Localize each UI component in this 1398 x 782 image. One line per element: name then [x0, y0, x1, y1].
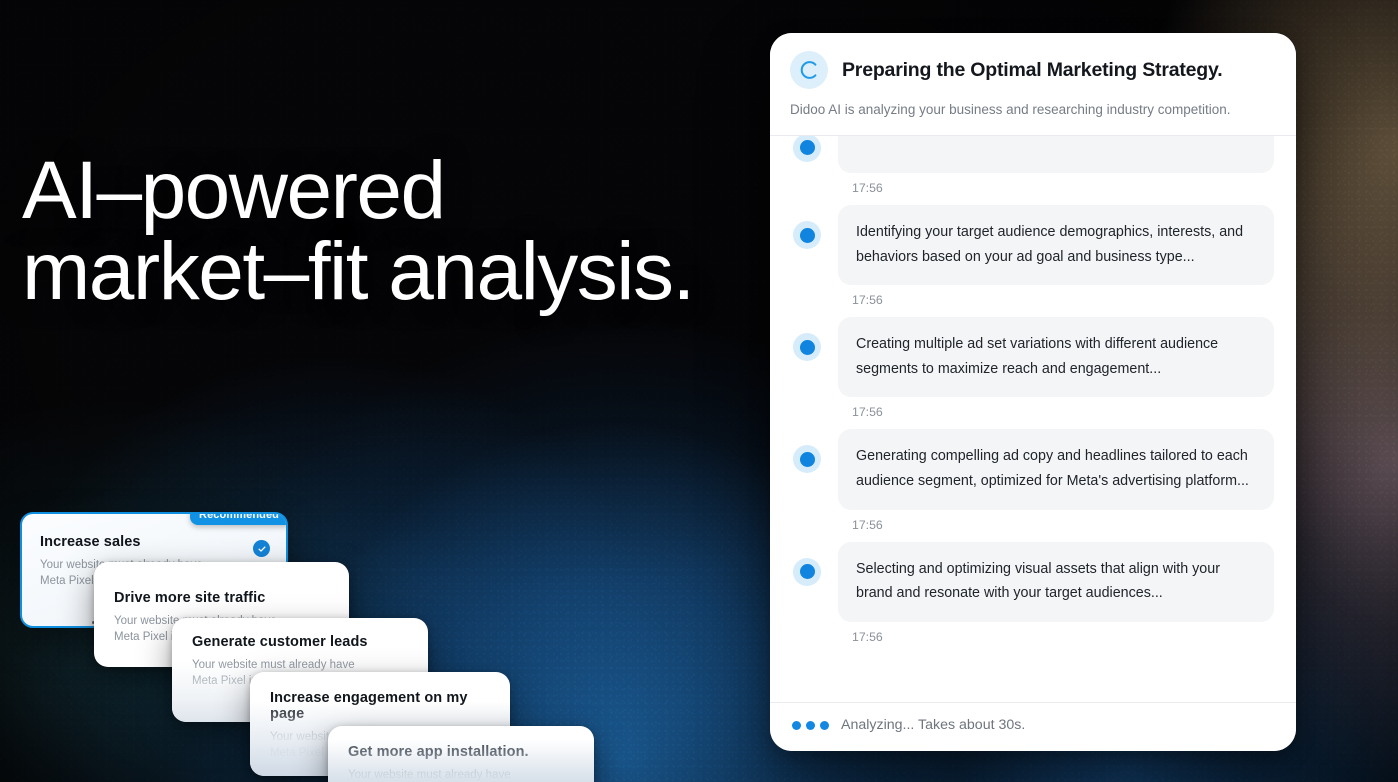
panel-header: Preparing the Optimal Marketing Strategy… [770, 33, 1296, 135]
message-group: Identifying your target audience demogra… [792, 205, 1274, 307]
message-timestamp: 17:56 [852, 293, 1274, 307]
panel-subtitle: Didoo AI is analyzing your business and … [790, 100, 1235, 121]
panel-title: Preparing the Optimal Marketing Strategy… [842, 59, 1222, 82]
goal-card-title: Increase engagement on my page [270, 690, 492, 722]
status-dot-wrap [792, 136, 822, 162]
message-group: Creating multiple ad set variations with… [792, 317, 1274, 419]
message-bubble: Selecting and optimizing visual assets t… [838, 542, 1274, 622]
message-row: Creating multiple ad set variations with… [792, 317, 1274, 397]
loading-dots-icon [792, 721, 829, 730]
panel-footer: Analyzing... Takes about 30s. [770, 702, 1296, 751]
message-row [792, 136, 1274, 174]
status-dot-wrap [792, 429, 822, 473]
message-list[interactable]: 17:56 Identifying your target audience d… [770, 136, 1296, 702]
analyzing-status: Analyzing... Takes about 30s. [841, 717, 1025, 733]
spinner-c-icon [790, 51, 828, 89]
status-dot-icon [793, 136, 821, 162]
message-bubble: Generating compelling ad copy and headli… [838, 429, 1274, 509]
message-row: Selecting and optimizing visual assets t… [792, 542, 1274, 622]
message-timestamp: 17:56 [852, 181, 1274, 195]
goal-card-description: Your website must already have Meta Pixe… [348, 767, 528, 782]
hero-section: AI–powered market–fit analysis. Recommen… [0, 0, 1398, 782]
status-dot-wrap [792, 205, 822, 249]
goal-card-title: Increase sales [40, 534, 268, 550]
status-dot-wrap [792, 542, 822, 586]
message-bubble [838, 136, 1274, 174]
message-row: Generating compelling ad copy and headli… [792, 429, 1274, 509]
goal-card-title: Drive more site traffic [114, 590, 331, 606]
status-dot-icon [793, 333, 821, 361]
goal-card-title: Generate customer leads [192, 634, 410, 650]
message-group: Generating compelling ad copy and headli… [792, 429, 1274, 531]
message-group: Selecting and optimizing visual assets t… [792, 542, 1274, 644]
goal-card-get-more-app-installation[interactable]: Get more app installation. Your website … [328, 726, 594, 782]
status-dot-icon [793, 558, 821, 586]
message-timestamp: 17:56 [852, 405, 1274, 419]
message-timestamp: 17:56 [852, 630, 1274, 644]
message-bubble: Identifying your target audience demogra… [838, 205, 1274, 285]
message-group-partial: 17:56 [792, 136, 1274, 196]
message-row: Identifying your target audience demogra… [792, 205, 1274, 285]
message-bubble: Creating multiple ad set variations with… [838, 317, 1274, 397]
goal-card-title: Get more app installation. [348, 744, 576, 760]
analysis-panel: Preparing the Optimal Marketing Strategy… [770, 33, 1296, 751]
status-dot-wrap [792, 317, 822, 361]
goal-card-stack: Recommended Increase sales Your website … [0, 0, 620, 782]
status-dot-icon [793, 445, 821, 473]
status-dot-icon [793, 221, 821, 249]
message-timestamp: 17:56 [852, 518, 1274, 532]
